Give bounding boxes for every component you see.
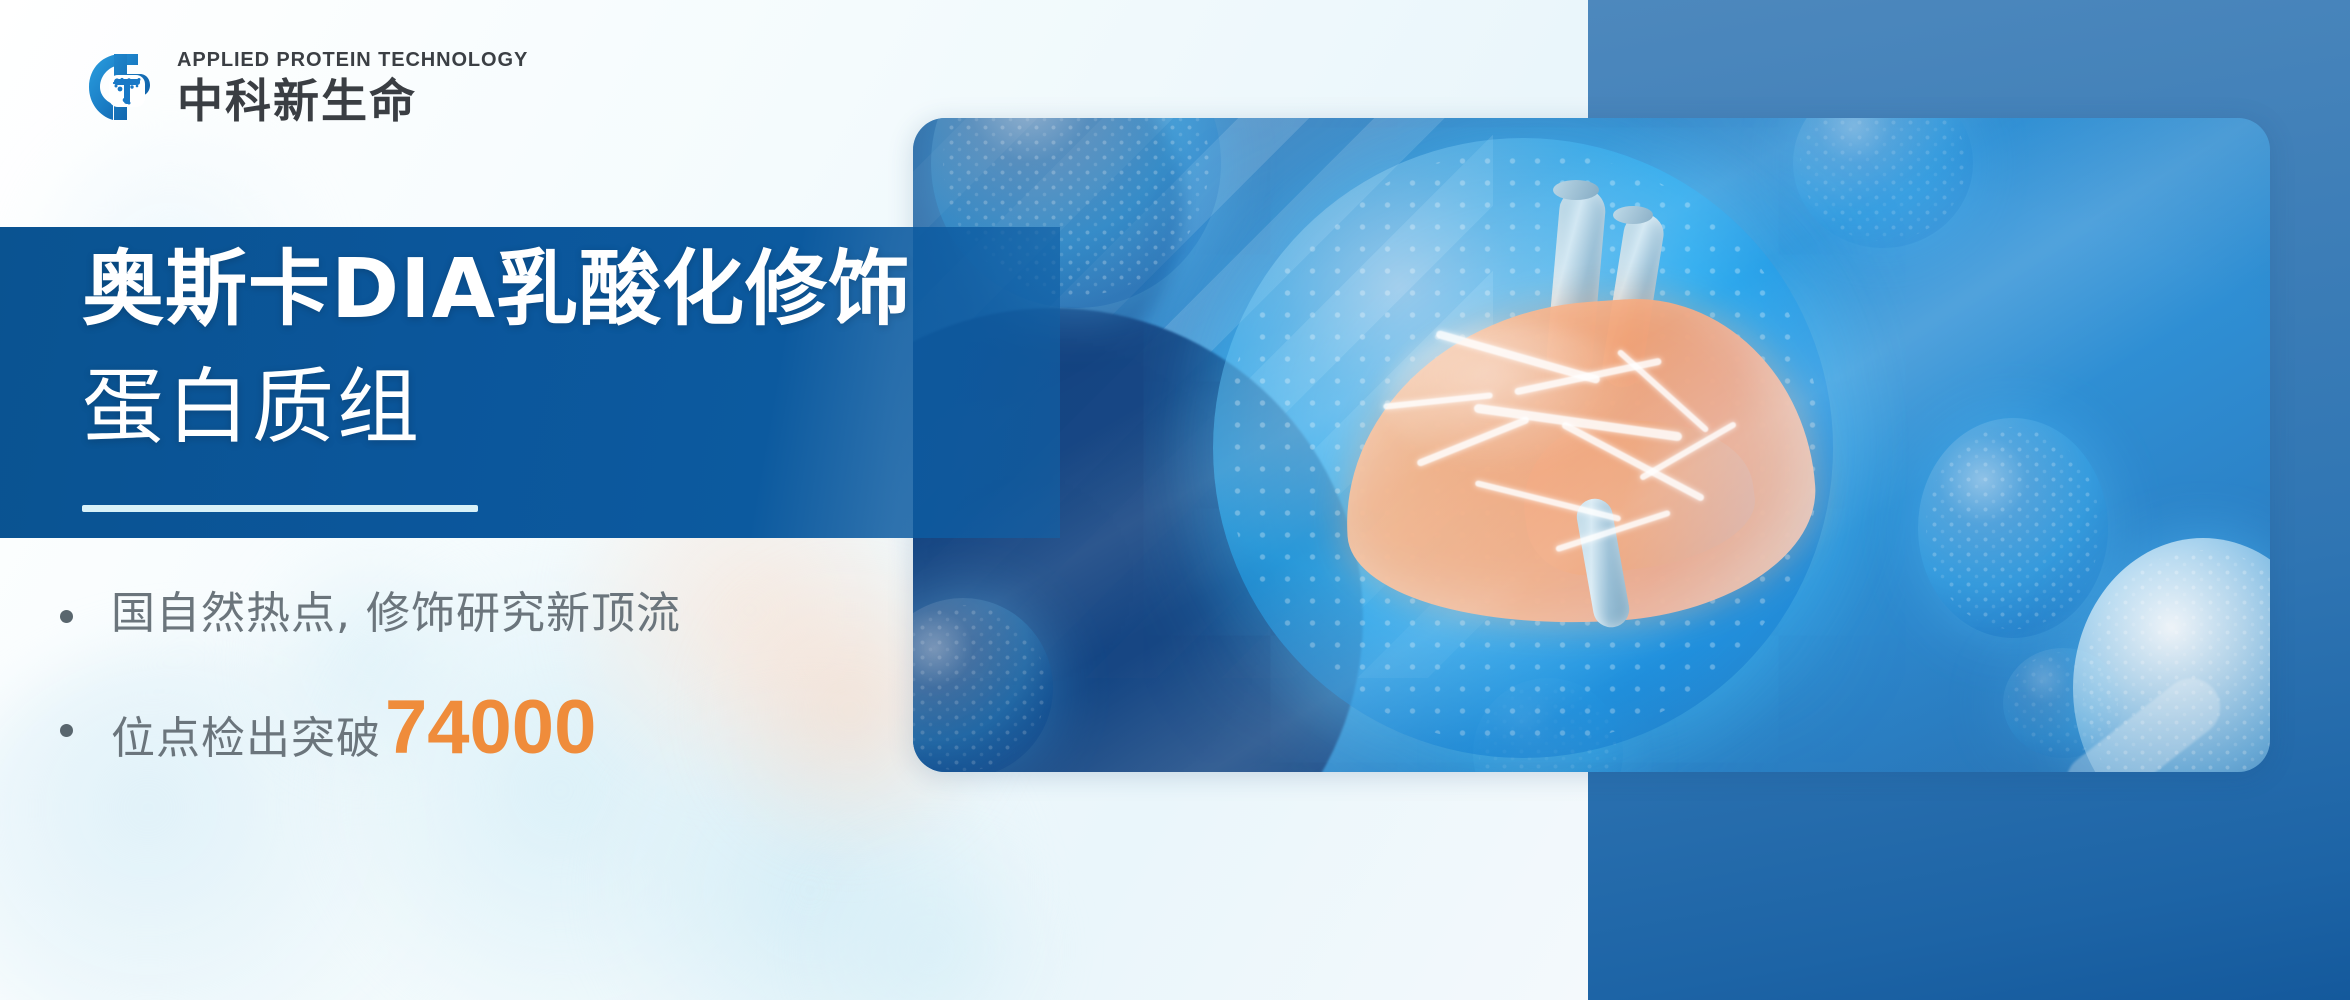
floating-cell [1793, 118, 1973, 248]
liver-organ [1332, 287, 1823, 639]
title-underline [82, 505, 478, 512]
title-inner: 奥斯卡DIA乳酸化修饰 蛋白质组 [82, 227, 982, 538]
sphere-glow [1163, 118, 1903, 772]
vein-line [1383, 392, 1493, 409]
liver-highlight [1383, 323, 1643, 473]
vessel-opening [1613, 206, 1653, 224]
bokeh-blob [800, 840, 1060, 1000]
vein-line [1514, 357, 1662, 395]
bullet-text: 国自然热点, 修饰研究新顶流 [111, 590, 681, 638]
photo-vignette [913, 118, 2270, 772]
floating-cell-bright [2073, 538, 2270, 772]
vein-line [1639, 421, 1737, 481]
logo-english-name: APPLIED PROTEIN TECHNOLOGY [177, 50, 528, 70]
logo-chinese-name: 中科新生命 [177, 78, 528, 124]
liver-lobe [1514, 403, 1763, 584]
promo-banner: APPLIED PROTEIN TECHNOLOGY 中科新生命 奥斯卡DIA乳… [0, 0, 2350, 1000]
hero-photo-card [913, 118, 2270, 772]
list-item: 位点检出突破 74000 [60, 690, 890, 766]
vein-line [1416, 416, 1530, 467]
glass-sheen-secondary [913, 118, 2270, 772]
floating-cell [1473, 678, 1623, 772]
list-item: 国自然热点, 修饰研究新顶流 [60, 590, 890, 638]
vein-line [1475, 480, 1622, 522]
vessel-opening [1553, 180, 1599, 200]
brand-logo[interactable]: APPLIED PROTEIN TECHNOLOGY 中科新生命 [83, 48, 528, 126]
metric-value: 74000 [385, 690, 596, 766]
bullet-dot-icon [60, 610, 73, 623]
vein-line [1616, 349, 1709, 434]
bullet-text-with-metric: 位点检出突破 74000 [111, 690, 596, 766]
title-line-1: 奥斯卡DIA乳酸化修饰 [82, 249, 911, 331]
blood-vessel-tube [1545, 186, 1607, 379]
logo-wordmark: APPLIED PROTEIN TECHNOLOGY 中科新生命 [177, 50, 528, 124]
blood-vessel-tube [1600, 211, 1667, 390]
vein-line [1435, 330, 1601, 385]
cell-sphere [1213, 138, 1833, 758]
vein-line [1555, 510, 1671, 553]
floating-cell [2003, 648, 2123, 758]
floating-cell [1918, 418, 2108, 638]
vein-line [1561, 421, 1706, 502]
title-line-2: 蛋白质组 [82, 367, 422, 449]
vein-line [1473, 403, 1682, 441]
bullet-dot-icon [60, 724, 73, 737]
bullet-text: 位点检出突破 [111, 717, 381, 761]
title-band: 奥斯卡DIA乳酸化修饰 蛋白质组 [0, 227, 1060, 538]
floating-cell [913, 598, 1053, 772]
glass-bar-accent [2054, 667, 2232, 772]
glass-sheen [913, 118, 2270, 772]
apt-logo-icon [83, 48, 161, 126]
feature-bullet-list: 国自然热点, 修饰研究新顶流 位点检出突破 74000 [60, 590, 890, 818]
blood-vessel-tube [1574, 496, 1632, 630]
